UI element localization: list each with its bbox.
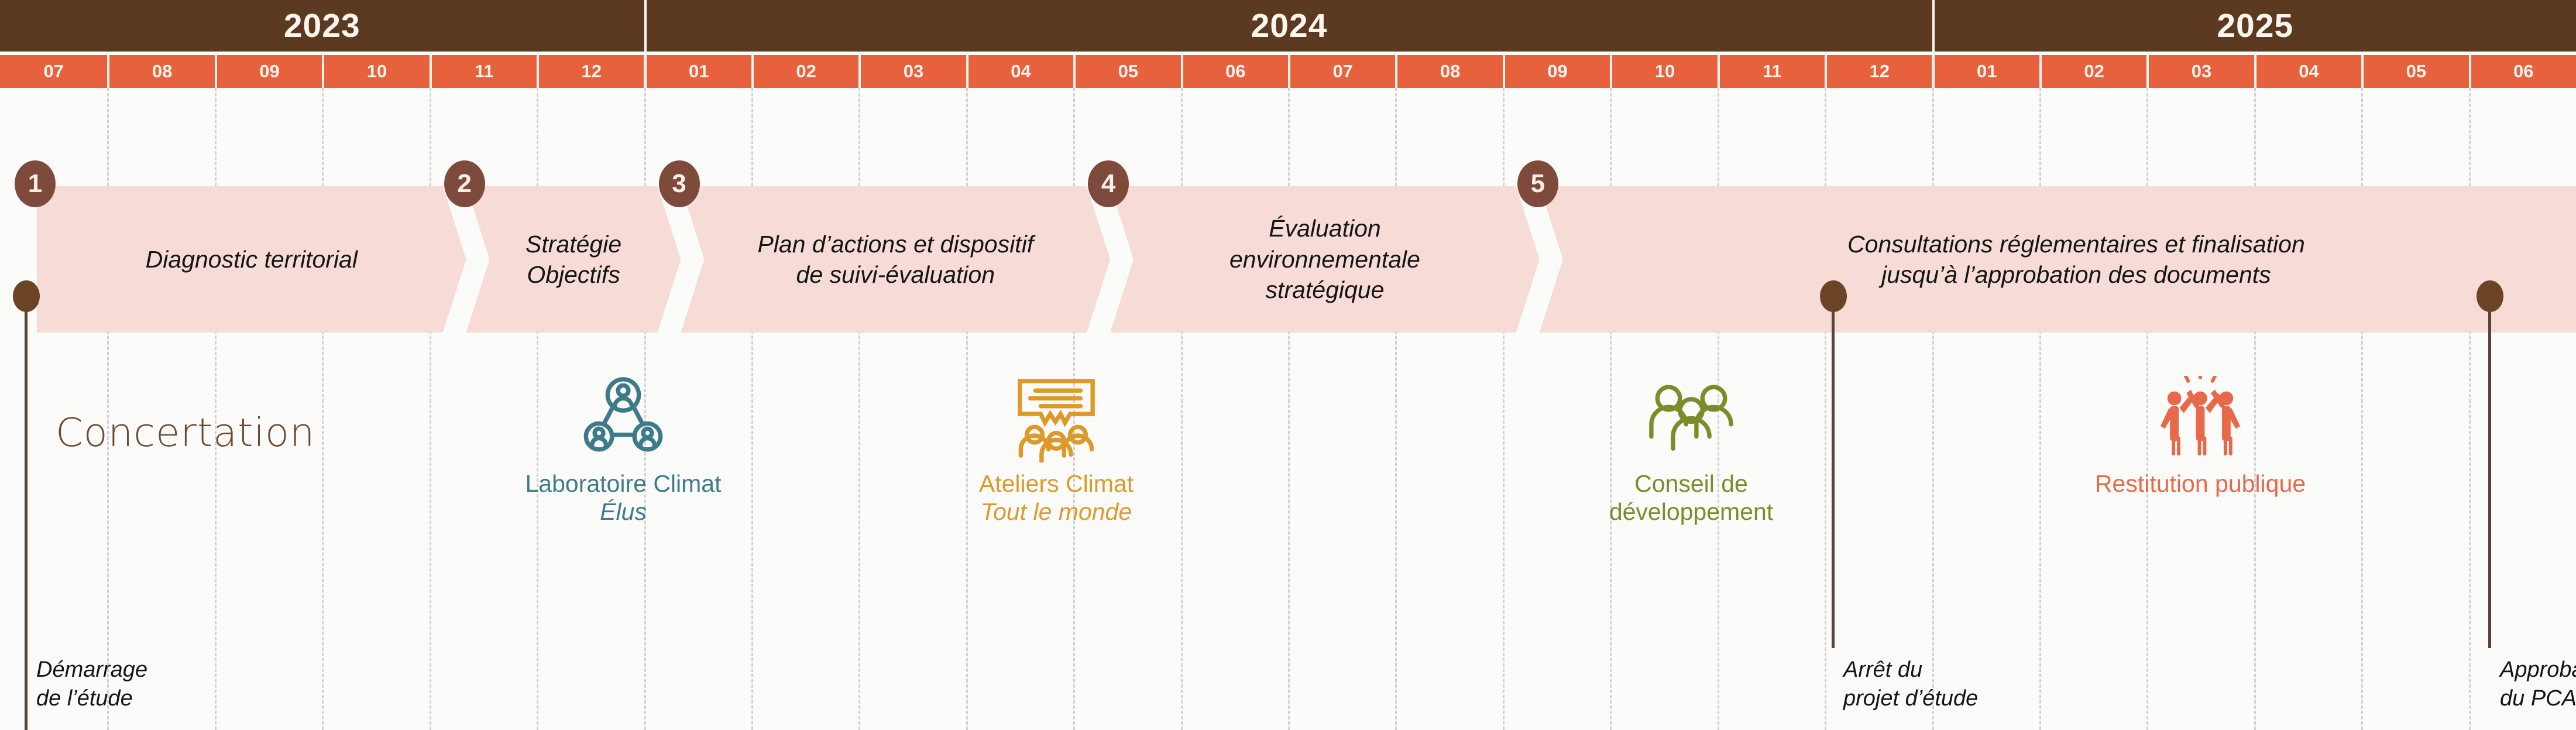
event-sublabel: Tout le monde <box>793 498 1320 526</box>
concertation-title: Concertation <box>56 410 315 455</box>
phase-chevron-1[interactable]: Diagnostic territorial <box>37 186 466 333</box>
speech-bubble-group-icon <box>1013 376 1100 462</box>
month-cell: 08 <box>1395 55 1502 88</box>
phase-label: Évaluationenvironnementalestratégique <box>1229 213 1420 305</box>
phase-badge-4[interactable]: 4 <box>1088 160 1129 207</box>
month-guide-line <box>2469 88 2471 730</box>
month-cell: 08 <box>107 55 214 88</box>
event-label-line2: développement <box>1428 498 1955 526</box>
month-cell: 07 <box>0 55 107 88</box>
year-cell-2023: 2023 <box>0 0 644 52</box>
milestone-dot-approbation[interactable] <box>2477 280 2503 312</box>
month-cell: 12 <box>537 55 644 88</box>
month-cell: 10 <box>322 55 429 88</box>
concertation-event[interactable]: Restitution publique <box>1937 375 2464 498</box>
month-cell: 04 <box>2254 55 2361 88</box>
month-cell: 09 <box>215 55 322 88</box>
phase-badge-3[interactable]: 3 <box>659 160 700 207</box>
phase-label: StratégieObjectifs <box>525 229 621 290</box>
month-cell: 03 <box>2146 55 2254 88</box>
month-cell: 09 <box>1503 55 1610 88</box>
month-cell: 02 <box>2039 55 2146 88</box>
milestone-stem-start <box>25 296 28 730</box>
milestone-label-start: Démarrage de l’étude <box>36 656 147 714</box>
phase-label: Consultations réglementaires et finalisa… <box>1847 229 2305 290</box>
three-people-outline-icon <box>1648 376 1734 462</box>
month-cell: 05 <box>1073 55 1180 88</box>
celebrating-people-icon-wrap <box>1937 375 2464 462</box>
phase-badge-1[interactable]: 1 <box>15 160 56 207</box>
month-cell: 01 <box>644 55 751 88</box>
phase-chevron-5[interactable]: Consultations réglementaires et finalisa… <box>1540 186 2576 333</box>
phase-chevron-2[interactable]: StratégieObjectifs <box>466 186 681 333</box>
month-cell: 11 <box>1718 55 1825 88</box>
month-cell: 06 <box>1181 55 1288 88</box>
event-label: Restitution publique <box>1937 469 2464 498</box>
phase-badge-5[interactable]: 5 <box>1517 160 1558 207</box>
milestone-dot-start[interactable] <box>13 280 40 312</box>
milestone-label-approbation: Approbation du PCAET <box>2500 656 2576 714</box>
speech-bubble-group-icon-wrap <box>793 375 1320 462</box>
event-label: Conseil de <box>1428 469 1955 498</box>
month-cell: 12 <box>1825 55 1932 88</box>
month-guide-line <box>1395 88 1397 730</box>
concertation-event[interactable]: Conseil dedéveloppement <box>1428 375 1955 526</box>
month-guide-line <box>322 88 324 730</box>
event-label: Ateliers Climat <box>793 469 1320 498</box>
network-people-icon <box>580 376 667 462</box>
month-guide-line <box>215 88 217 730</box>
phase-chevron-4[interactable]: Évaluationenvironnementalestratégique <box>1110 186 1540 333</box>
month-cell: 10 <box>1610 55 1717 88</box>
phase-chevron-3[interactable]: Plan d’actions et dispositifde suivi-éva… <box>681 186 1111 333</box>
month-cell: 07 <box>1288 55 1395 88</box>
three-people-outline-icon-wrap <box>1428 375 1955 462</box>
month-cell: 03 <box>858 55 966 88</box>
milestone-stem-approbation <box>2488 296 2491 648</box>
month-header-row: 0708091011120102030405060708091011120102… <box>0 55 2576 88</box>
celebrating-people-icon <box>2157 376 2244 462</box>
pcaet-timeline-infographic: 202320242025 070809101112010203040506070… <box>0 0 2576 730</box>
milestone-dot-arret[interactable] <box>1820 280 1847 312</box>
year-cell-2025: 2025 <box>1932 0 2576 52</box>
month-cell: 02 <box>751 55 858 88</box>
year-header-row: 202320242025 <box>0 0 2576 52</box>
month-cell: 05 <box>2361 55 2468 88</box>
milestone-label-arret: Arrêt du projet d’étude <box>1843 656 1978 714</box>
year-cell-2024: 2024 <box>644 0 1932 52</box>
month-cell: 11 <box>430 55 537 88</box>
month-cell: 06 <box>2469 55 2576 88</box>
phase-badge-2[interactable]: 2 <box>444 160 485 207</box>
concertation-event[interactable]: Ateliers ClimatTout le monde <box>793 375 1320 526</box>
phase-label: Plan d’actions et dispositifde suivi-éva… <box>757 229 1033 290</box>
phase-label: Diagnostic territorial <box>146 244 358 275</box>
month-cell: 04 <box>966 55 1073 88</box>
milestone-stem-arret <box>1832 296 1835 648</box>
month-cell: 01 <box>1932 55 2039 88</box>
phase-band: Diagnostic territorialStratégieObjectifs… <box>0 186 2576 333</box>
month-guide-line <box>107 88 109 730</box>
